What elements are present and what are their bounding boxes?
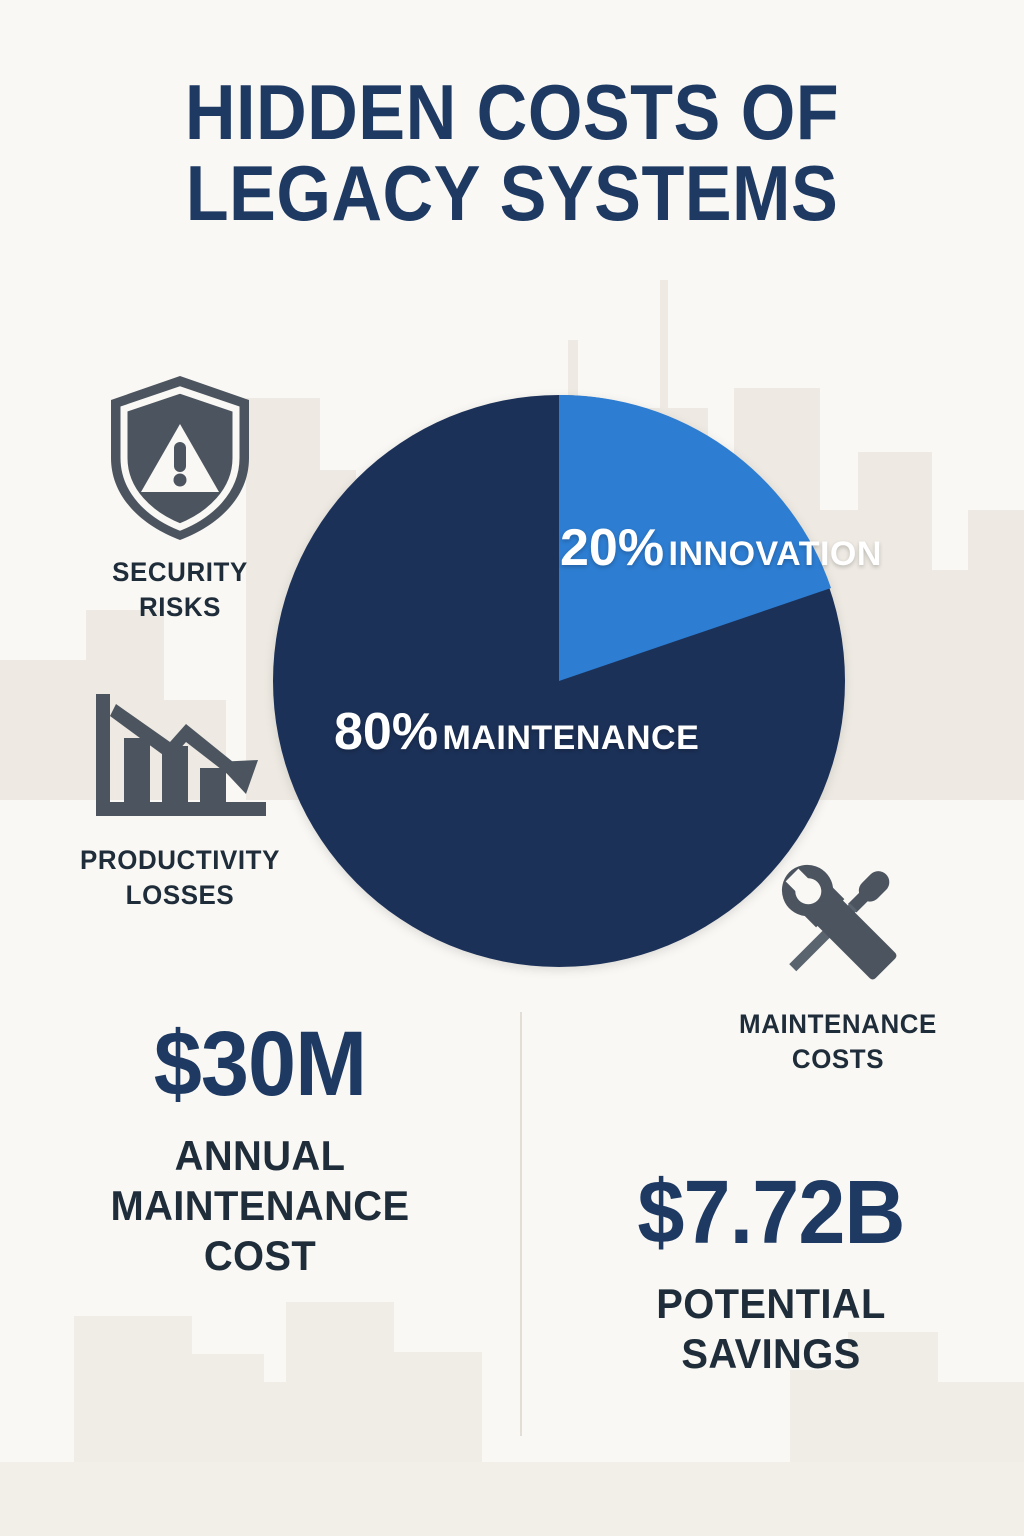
icon-block-productivity-losses: PRODUCTIVITY LOSSES xyxy=(30,690,330,912)
stat-value-potential-savings: $7.72B xyxy=(550,1168,992,1258)
stat-value-annual-maintenance-cost: $30M xyxy=(34,1018,485,1110)
stat-caption-savings-line1: POTENTIAL xyxy=(548,1280,995,1328)
infographic-poster: HIDDEN COSTS OF LEGACY SYSTEMS 80% MAINT… xyxy=(0,0,1024,1536)
icon-caption-productivity-losses-line1: PRODUCTIVITY xyxy=(36,844,324,877)
icon-caption-security-risks-line1: SECURITY xyxy=(69,556,292,589)
icon-caption-security-risks-line2: RISKS xyxy=(69,591,292,624)
wrench-screwdriver-icon xyxy=(758,848,918,994)
page-title-line-1: HIDDEN COSTS OF xyxy=(51,72,973,153)
stat-caption-annual-line1: ANNUAL xyxy=(32,1132,488,1180)
shield-warning-icon xyxy=(105,374,255,542)
stat-caption-savings-line2: SAVINGS xyxy=(548,1330,995,1378)
ground-band xyxy=(0,1462,1024,1536)
icon-block-security-risks: SECURITY RISKS xyxy=(64,374,296,624)
icon-caption-productivity-losses-line2: LOSSES xyxy=(36,879,324,912)
stat-caption-annual-line2: MAINTENANCE xyxy=(32,1182,488,1230)
stat-annual-maintenance-cost: $30M ANNUAL MAINTENANCE COST xyxy=(20,1018,500,1280)
page-title-line-2: LEGACY SYSTEMS xyxy=(51,153,973,234)
icon-caption-maintenance-costs-line1: MAINTENANCE xyxy=(694,1008,982,1041)
page-title: HIDDEN COSTS OF LEGACY SYSTEMS xyxy=(0,72,1024,234)
stats-divider xyxy=(520,1012,522,1436)
stat-caption-annual-line3: COST xyxy=(32,1232,488,1280)
icon-caption-maintenance-costs-line2: COSTS xyxy=(694,1043,982,1076)
icon-block-maintenance-costs: MAINTENANCE COSTS xyxy=(688,848,988,1076)
stat-potential-savings: $7.72B POTENTIAL SAVINGS xyxy=(536,1168,1006,1378)
declining-chart-icon xyxy=(86,690,274,830)
